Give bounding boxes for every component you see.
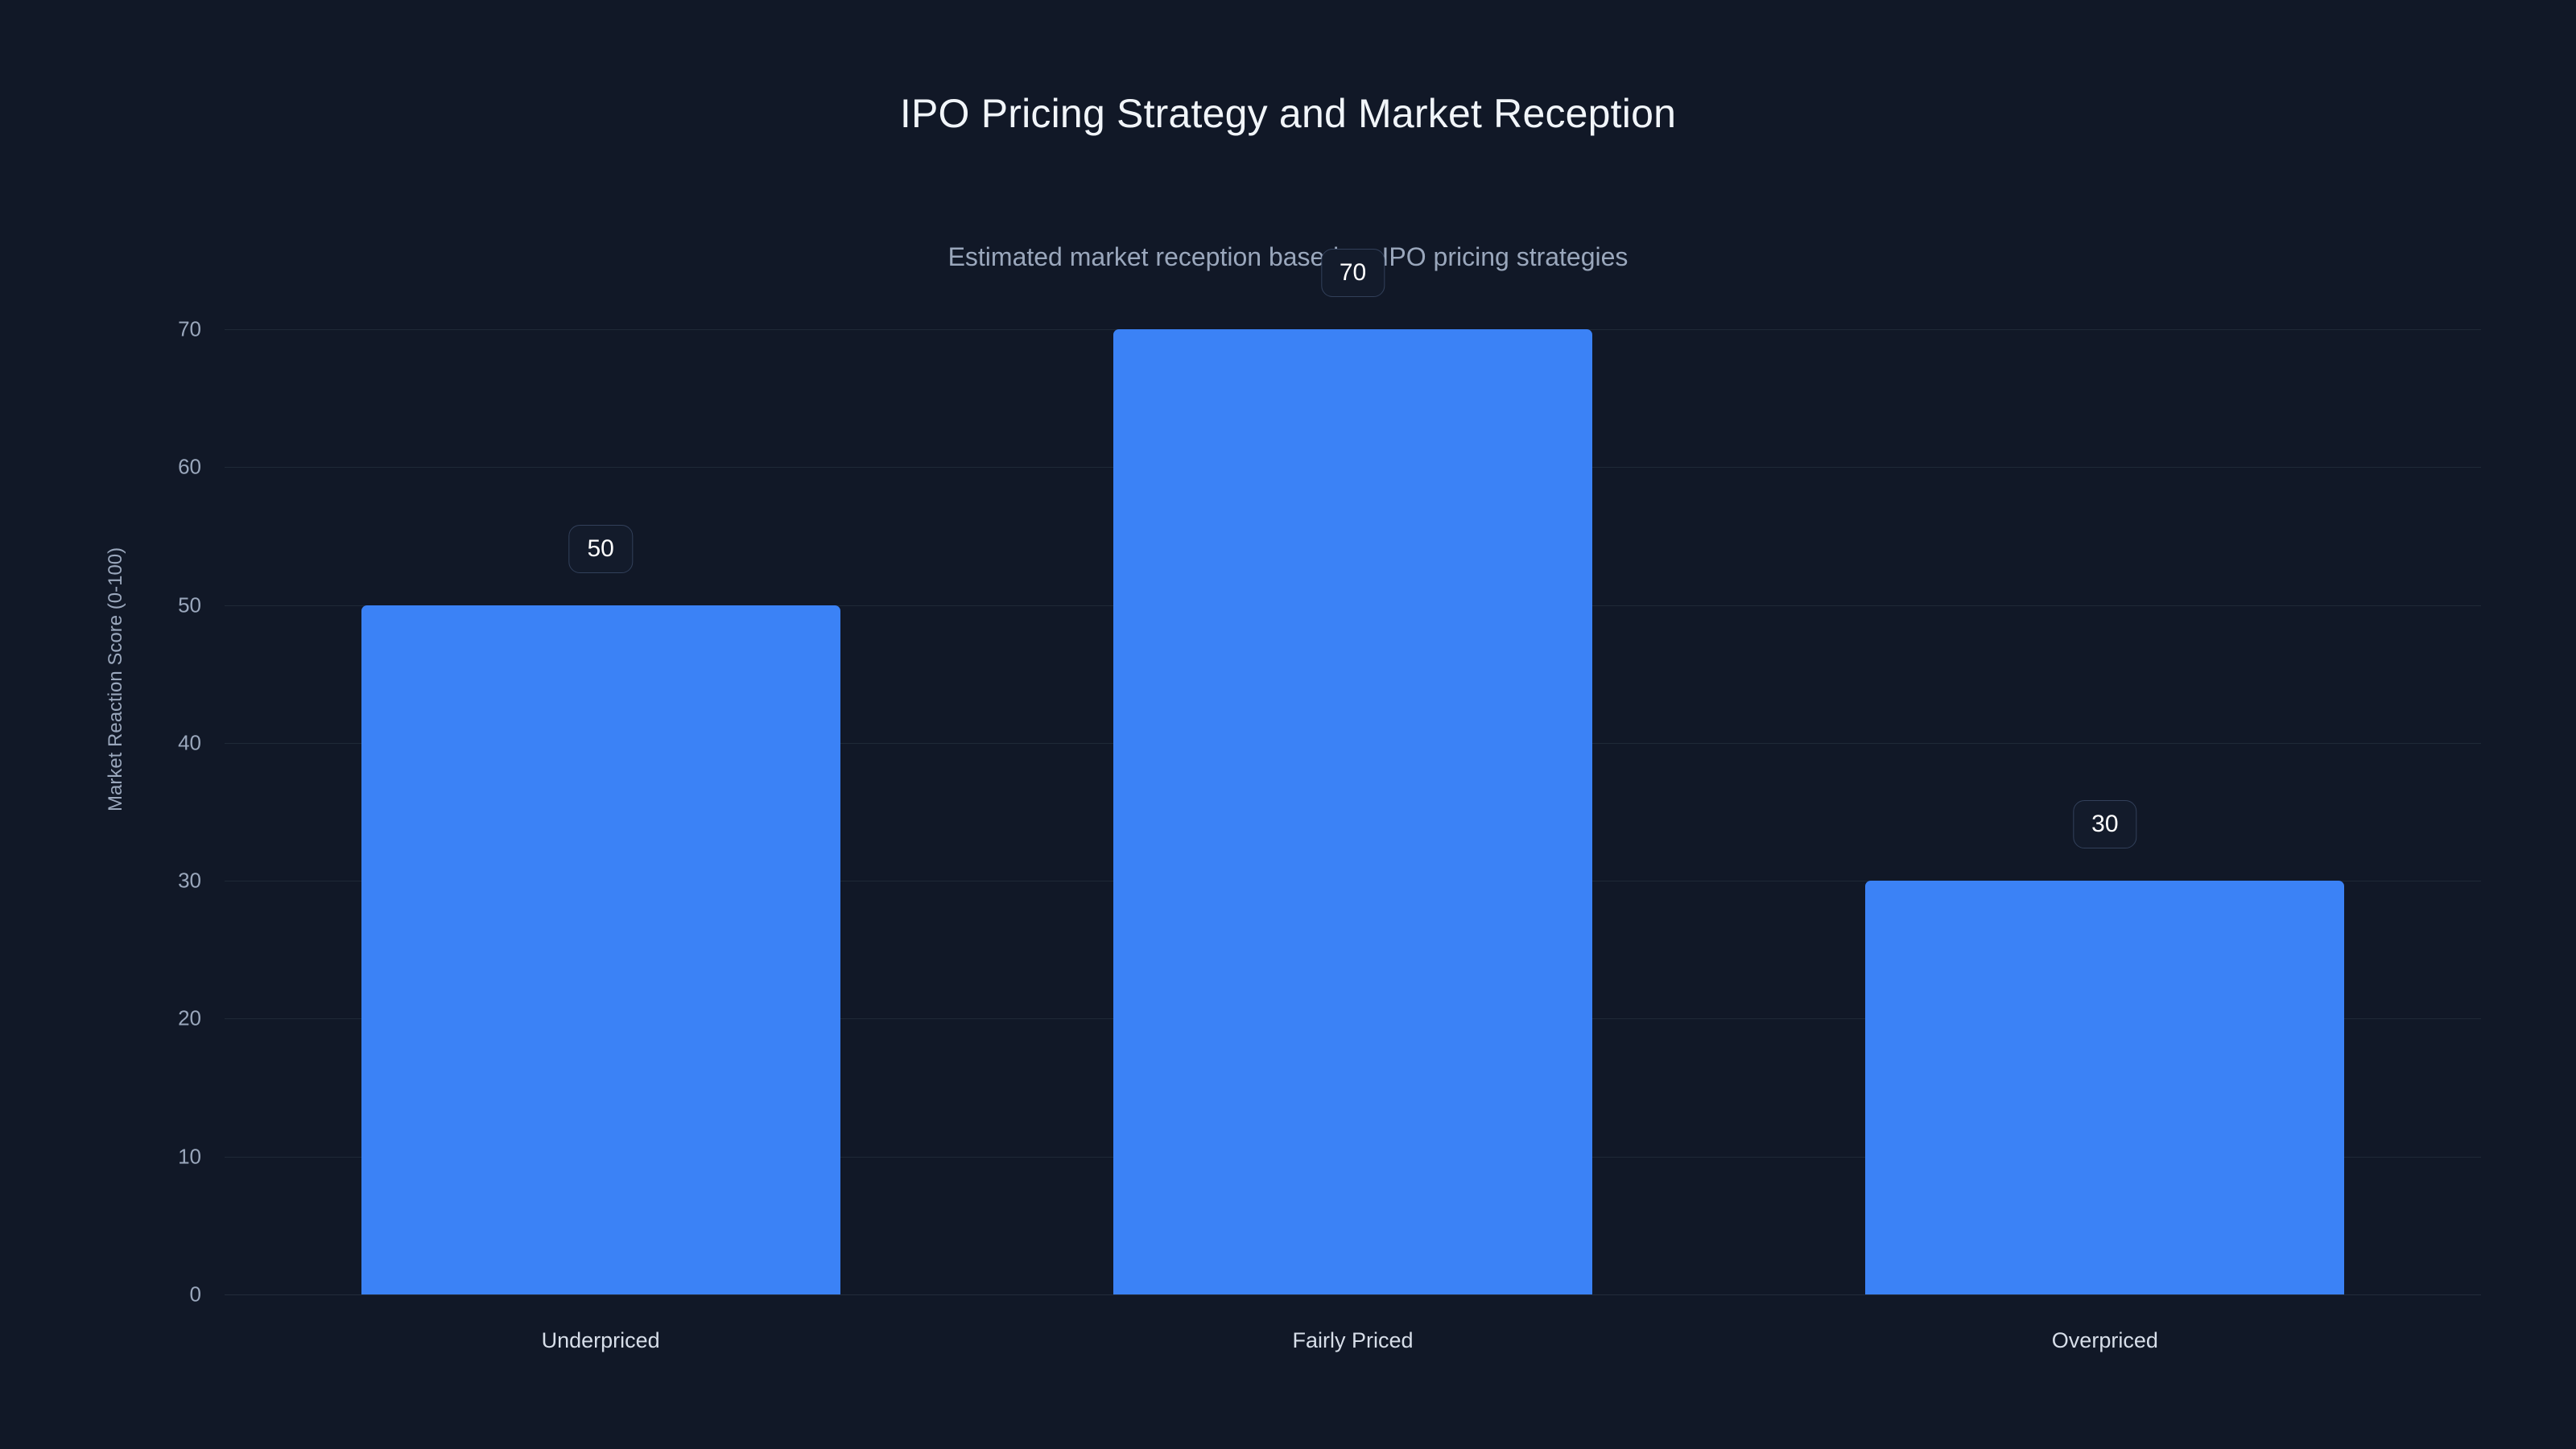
y-axis-tick-label: 50: [113, 592, 201, 617]
gridline: [225, 1294, 2481, 1295]
x-axis-category-label: Overpriced: [2052, 1328, 2158, 1353]
value-badge-overpriced: 30: [2073, 800, 2136, 848]
bar-underpriced[interactable]: [361, 605, 840, 1294]
y-axis-tick-label: 40: [113, 730, 201, 755]
chart-title: IPO Pricing Strategy and Market Receptio…: [0, 90, 2576, 137]
y-axis-tick-label: 0: [113, 1282, 201, 1307]
y-axis-tick-label: 20: [113, 1006, 201, 1031]
chart-subtitle: Estimated market reception based on IPO …: [0, 242, 2576, 272]
y-axis-tick-label: 30: [113, 869, 201, 894]
bar-chart-figure: IPO Pricing Strategy and Market Receptio…: [0, 0, 2576, 1449]
y-axis-tick-label: 70: [113, 317, 201, 342]
value-badge-fairly-priced: 70: [1321, 249, 1385, 297]
y-axis-title: Market Reaction Score (0-100): [105, 547, 127, 811]
y-axis-tick-label: 60: [113, 455, 201, 480]
bar-overpriced[interactable]: [1865, 881, 2344, 1294]
value-badge-underpriced: 50: [568, 525, 632, 573]
x-axis-category-label: Fairly Priced: [1292, 1328, 1413, 1353]
y-axis-tick-label: 10: [113, 1144, 201, 1169]
x-axis-category-label: Underpriced: [542, 1328, 660, 1353]
plot-area: [225, 329, 2481, 1294]
bar-fairly-priced[interactable]: [1113, 329, 1592, 1294]
